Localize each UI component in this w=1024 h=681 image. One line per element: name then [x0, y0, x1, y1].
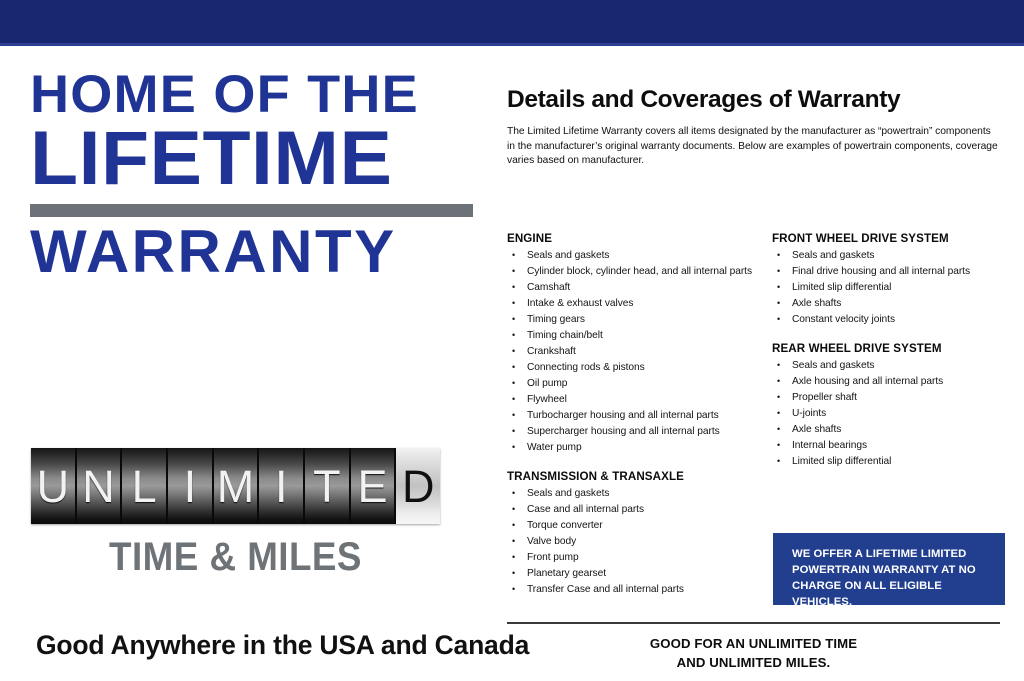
coverage-list-item: Axle shafts [772, 296, 1017, 312]
odometer-cell-letter: D [402, 464, 435, 509]
coverage-list-item: Seals and gaskets [772, 358, 1017, 374]
logo-line-lifetime: LIFETIME [30, 123, 492, 196]
footer-line-1: GOOD FOR AN UNLIMITED TIME [507, 635, 1000, 654]
odometer-cell: I [259, 448, 305, 524]
coverage-region-tagline: Good Anywhere in the USA and Canada [36, 630, 529, 661]
coverage-section: TRANSMISSION & TRANSAXLESeals and gasket… [507, 470, 757, 598]
odometer-cell-letter: E [358, 464, 388, 509]
coverage-list-item: Crankshaft [507, 344, 757, 360]
odometer-graphic: UNLIMITED [31, 448, 440, 524]
coverage-section: ENGINESeals and gasketsCylinder block, c… [507, 232, 757, 456]
odometer-cell: L [122, 448, 168, 524]
coverage-list-item: Axle shafts [772, 422, 1017, 438]
coverage-list-item: Flywheel [507, 392, 757, 408]
callout-line-1: WE OFFER A LIFETIME LIMITED [792, 546, 1005, 562]
coverage-section-heading: FRONT WHEEL DRIVE SYSTEM [772, 232, 1017, 245]
no-charge-callout-box: WE OFFER A LIFETIME LIMITED POWERTRAIN W… [773, 533, 1005, 605]
coverage-list-item: Turbocharger housing and all internal pa… [507, 408, 757, 424]
coverage-list-item: Final drive housing and all internal par… [772, 264, 1017, 280]
coverage-list-item: Internal bearings [772, 438, 1017, 454]
footer-line-2: AND UNLIMITED MILES. [507, 654, 1000, 673]
odometer-cell-letter: U [37, 464, 70, 509]
coverage-column-left: ENGINESeals and gasketsCylinder block, c… [507, 232, 757, 598]
coverage-list-item: Torque converter [507, 518, 757, 534]
odometer-cell: T [305, 448, 351, 524]
odometer-cell-letter: T [313, 464, 341, 509]
coverage-list-item: Cylinder block, cylinder head, and all i… [507, 264, 757, 280]
coverage-item-list: Seals and gasketsCylinder block, cylinde… [507, 248, 757, 456]
odometer-cell: U [31, 448, 77, 524]
logo-gray-rule [30, 204, 473, 217]
coverage-list-item: Limited slip differential [772, 454, 1017, 470]
coverage-list-item: Valve body [507, 534, 757, 550]
top-navy-banner [0, 0, 1024, 43]
coverage-list-item: Supercharger housing and all internal pa… [507, 424, 757, 440]
coverage-section: FRONT WHEEL DRIVE SYSTEMSeals and gasket… [772, 232, 1017, 328]
coverage-list-item: Transfer Case and all internal parts [507, 582, 757, 598]
coverage-list-item: Water pump [507, 440, 757, 456]
footer-divider-rule [507, 622, 1000, 624]
coverage-list-item: Case and all internal parts [507, 502, 757, 518]
callout-line-3: CHARGE ON ALL ELIGIBLE VEHICLES. [792, 578, 1005, 610]
coverage-list-item: Seals and gaskets [772, 248, 1017, 264]
callout-line-2: POWERTRAIN WARRANTY AT NO [792, 562, 1005, 578]
coverage-list-item: Timing gears [507, 312, 757, 328]
coverage-list-item: Limited slip differential [772, 280, 1017, 296]
odometer-cell: E [351, 448, 397, 524]
details-body-paragraph: The Limited Lifetime Warranty covers all… [507, 125, 999, 169]
coverage-list-item: Camshaft [507, 280, 757, 296]
logo-line-warranty: WARRANTY [30, 223, 476, 281]
odometer-cell-letter: I [184, 464, 197, 509]
logo-line-home-of-the: HOME OF THE [30, 70, 485, 121]
details-title: Details and Coverages of Warranty [507, 86, 900, 114]
right-panel: Details and Coverages of Warranty The Li… [500, 46, 1024, 681]
lifetime-warranty-logo: HOME OF THE LIFETIME WARRANTY [30, 70, 476, 280]
coverage-list-item: Planetary gearset [507, 566, 757, 582]
coverage-list-item: Axle housing and all internal parts [772, 374, 1017, 390]
coverage-list-item: Intake & exhaust valves [507, 296, 757, 312]
coverage-section-heading: REAR WHEEL DRIVE SYSTEM [772, 342, 1017, 355]
coverage-item-list: Seals and gasketsFinal drive housing and… [772, 248, 1017, 328]
coverage-list-item: Front pump [507, 550, 757, 566]
coverage-item-list: Seals and gasketsCase and all internal p… [507, 486, 757, 598]
coverage-list-item: Connecting rods & pistons [507, 360, 757, 376]
coverage-list-item: Propeller shaft [772, 390, 1017, 406]
coverage-list-item: Seals and gaskets [507, 248, 757, 264]
coverage-list-item: Timing chain/belt [507, 328, 757, 344]
coverage-column-right: FRONT WHEEL DRIVE SYSTEMSeals and gasket… [772, 232, 1017, 470]
odometer-cell: N [77, 448, 123, 524]
odometer-cell: M [214, 448, 260, 524]
odometer-cell: I [168, 448, 214, 524]
odometer-cell-letter: L [132, 464, 157, 509]
left-panel: HOME OF THE LIFETIME WARRANTY UNLIMITED … [0, 46, 500, 681]
coverage-list-item: Constant velocity joints [772, 312, 1017, 328]
odometer-cell-letter: I [275, 464, 288, 509]
odometer-cell: D [396, 448, 440, 524]
odometer-caption: TIME & MILES [47, 535, 423, 580]
coverage-item-list: Seals and gasketsAxle housing and all in… [772, 358, 1017, 470]
odometer-cell-letter: M [217, 464, 255, 509]
footer-statement: GOOD FOR AN UNLIMITED TIME AND UNLIMITED… [507, 635, 1000, 672]
coverage-list-item: Seals and gaskets [507, 486, 757, 502]
warranty-flyer-page: HOME OF THE LIFETIME WARRANTY UNLIMITED … [0, 0, 1024, 681]
coverage-section: REAR WHEEL DRIVE SYSTEMSeals and gaskets… [772, 342, 1017, 470]
coverage-section-heading: ENGINE [507, 232, 757, 245]
coverage-list-item: Oil pump [507, 376, 757, 392]
coverage-section-heading: TRANSMISSION & TRANSAXLE [507, 470, 757, 483]
coverage-list-item: U-joints [772, 406, 1017, 422]
odometer-cell-letter: N [82, 464, 115, 509]
